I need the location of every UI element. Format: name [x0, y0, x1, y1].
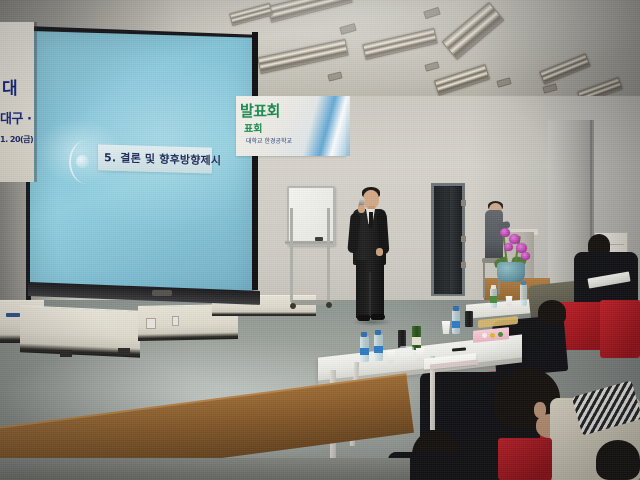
whiteboard-wheel-left [290, 303, 296, 309]
presenter-hand-with-mic [358, 205, 365, 213]
table-bottle-3-label [452, 321, 460, 328]
assistant-at-podium [485, 210, 503, 262]
audience-head-4 [596, 440, 640, 480]
back-banner-line-2: 표회 [244, 120, 262, 135]
stool-leg-left [483, 262, 485, 298]
heater-foot-2 [118, 348, 130, 355]
table-bottle-3-cap [453, 306, 459, 311]
presenter-shoe-right [371, 314, 385, 320]
back-banner-line-1: 발표회 [240, 100, 280, 121]
left-banner-line-1: 대 [2, 74, 17, 99]
projection-screen-right-edge [252, 32, 258, 290]
left-banner-line-2: 대구 · [0, 108, 31, 127]
slide-decoration-dot [76, 155, 89, 168]
table-bottle-2-label [374, 346, 383, 353]
table-plastic-wrap [399, 346, 414, 356]
orchid-flower-5 [521, 252, 530, 260]
left-banner-edge [34, 22, 37, 182]
pink-box-dot-1 [482, 333, 487, 338]
heater-foot-1 [60, 350, 72, 357]
door-hinge-mid [461, 236, 466, 242]
wall-outlet-2[interactable] [172, 316, 179, 326]
presenter-necktie [369, 212, 373, 228]
presenter-leg-gap [369, 272, 371, 316]
presenter-shoe-left [357, 315, 370, 321]
whiteboard-marker[interactable] [315, 237, 323, 241]
back-banner-line-3: 대학교 한경공학교 [246, 136, 292, 145]
door-hinge-top [461, 200, 466, 206]
orchid-flower-4 [504, 243, 513, 251]
presentation-hall-photo: 5. 결론 및 향후방향제시 대 대구 · 1. 20(금) 1 발표회 표회 … [0, 0, 640, 480]
audience-chair-4[interactable] [600, 300, 640, 358]
whiteboard-wheel-right [326, 302, 332, 308]
left-banner: 대 대구 · 1. 20(금) 1 [0, 22, 34, 182]
heater-logo [6, 313, 20, 317]
table-dark-can-2 [465, 311, 473, 327]
table-green-bottle-label [412, 337, 421, 345]
pink-box-dot-3 [498, 332, 503, 337]
orchid-flower-1 [500, 228, 510, 237]
audience-head-2 [538, 300, 566, 324]
orchid-pot [497, 262, 525, 282]
table-bottle-2-cap [375, 330, 381, 335]
side-table-bottle-2-cap [521, 281, 526, 285]
door-hinge-bottom [461, 262, 466, 268]
left-banner-line-3: 1. 20(금) 1 [0, 134, 34, 145]
table-bottle-1-label [360, 348, 369, 355]
presenter-hand-lower [376, 248, 383, 256]
pink-box-dot-2 [490, 333, 495, 338]
wall-outlet-1[interactable] [146, 318, 156, 329]
audience-chair-5[interactable] [498, 438, 552, 480]
whiteboard-leg-right [327, 208, 330, 302]
foreground-floor [0, 458, 410, 480]
whiteboard-leg-left [290, 208, 293, 302]
table-bottle-1-cap [361, 332, 367, 337]
side-table-bottle-2 [520, 284, 527, 306]
projection-screen-pull-handle[interactable] [152, 290, 172, 296]
side-table-bottle-1-cap [491, 285, 496, 289]
side-table-bottle-1-label [490, 296, 497, 303]
slide-title-text: 5. 결론 및 향후방향제시 [104, 148, 234, 172]
